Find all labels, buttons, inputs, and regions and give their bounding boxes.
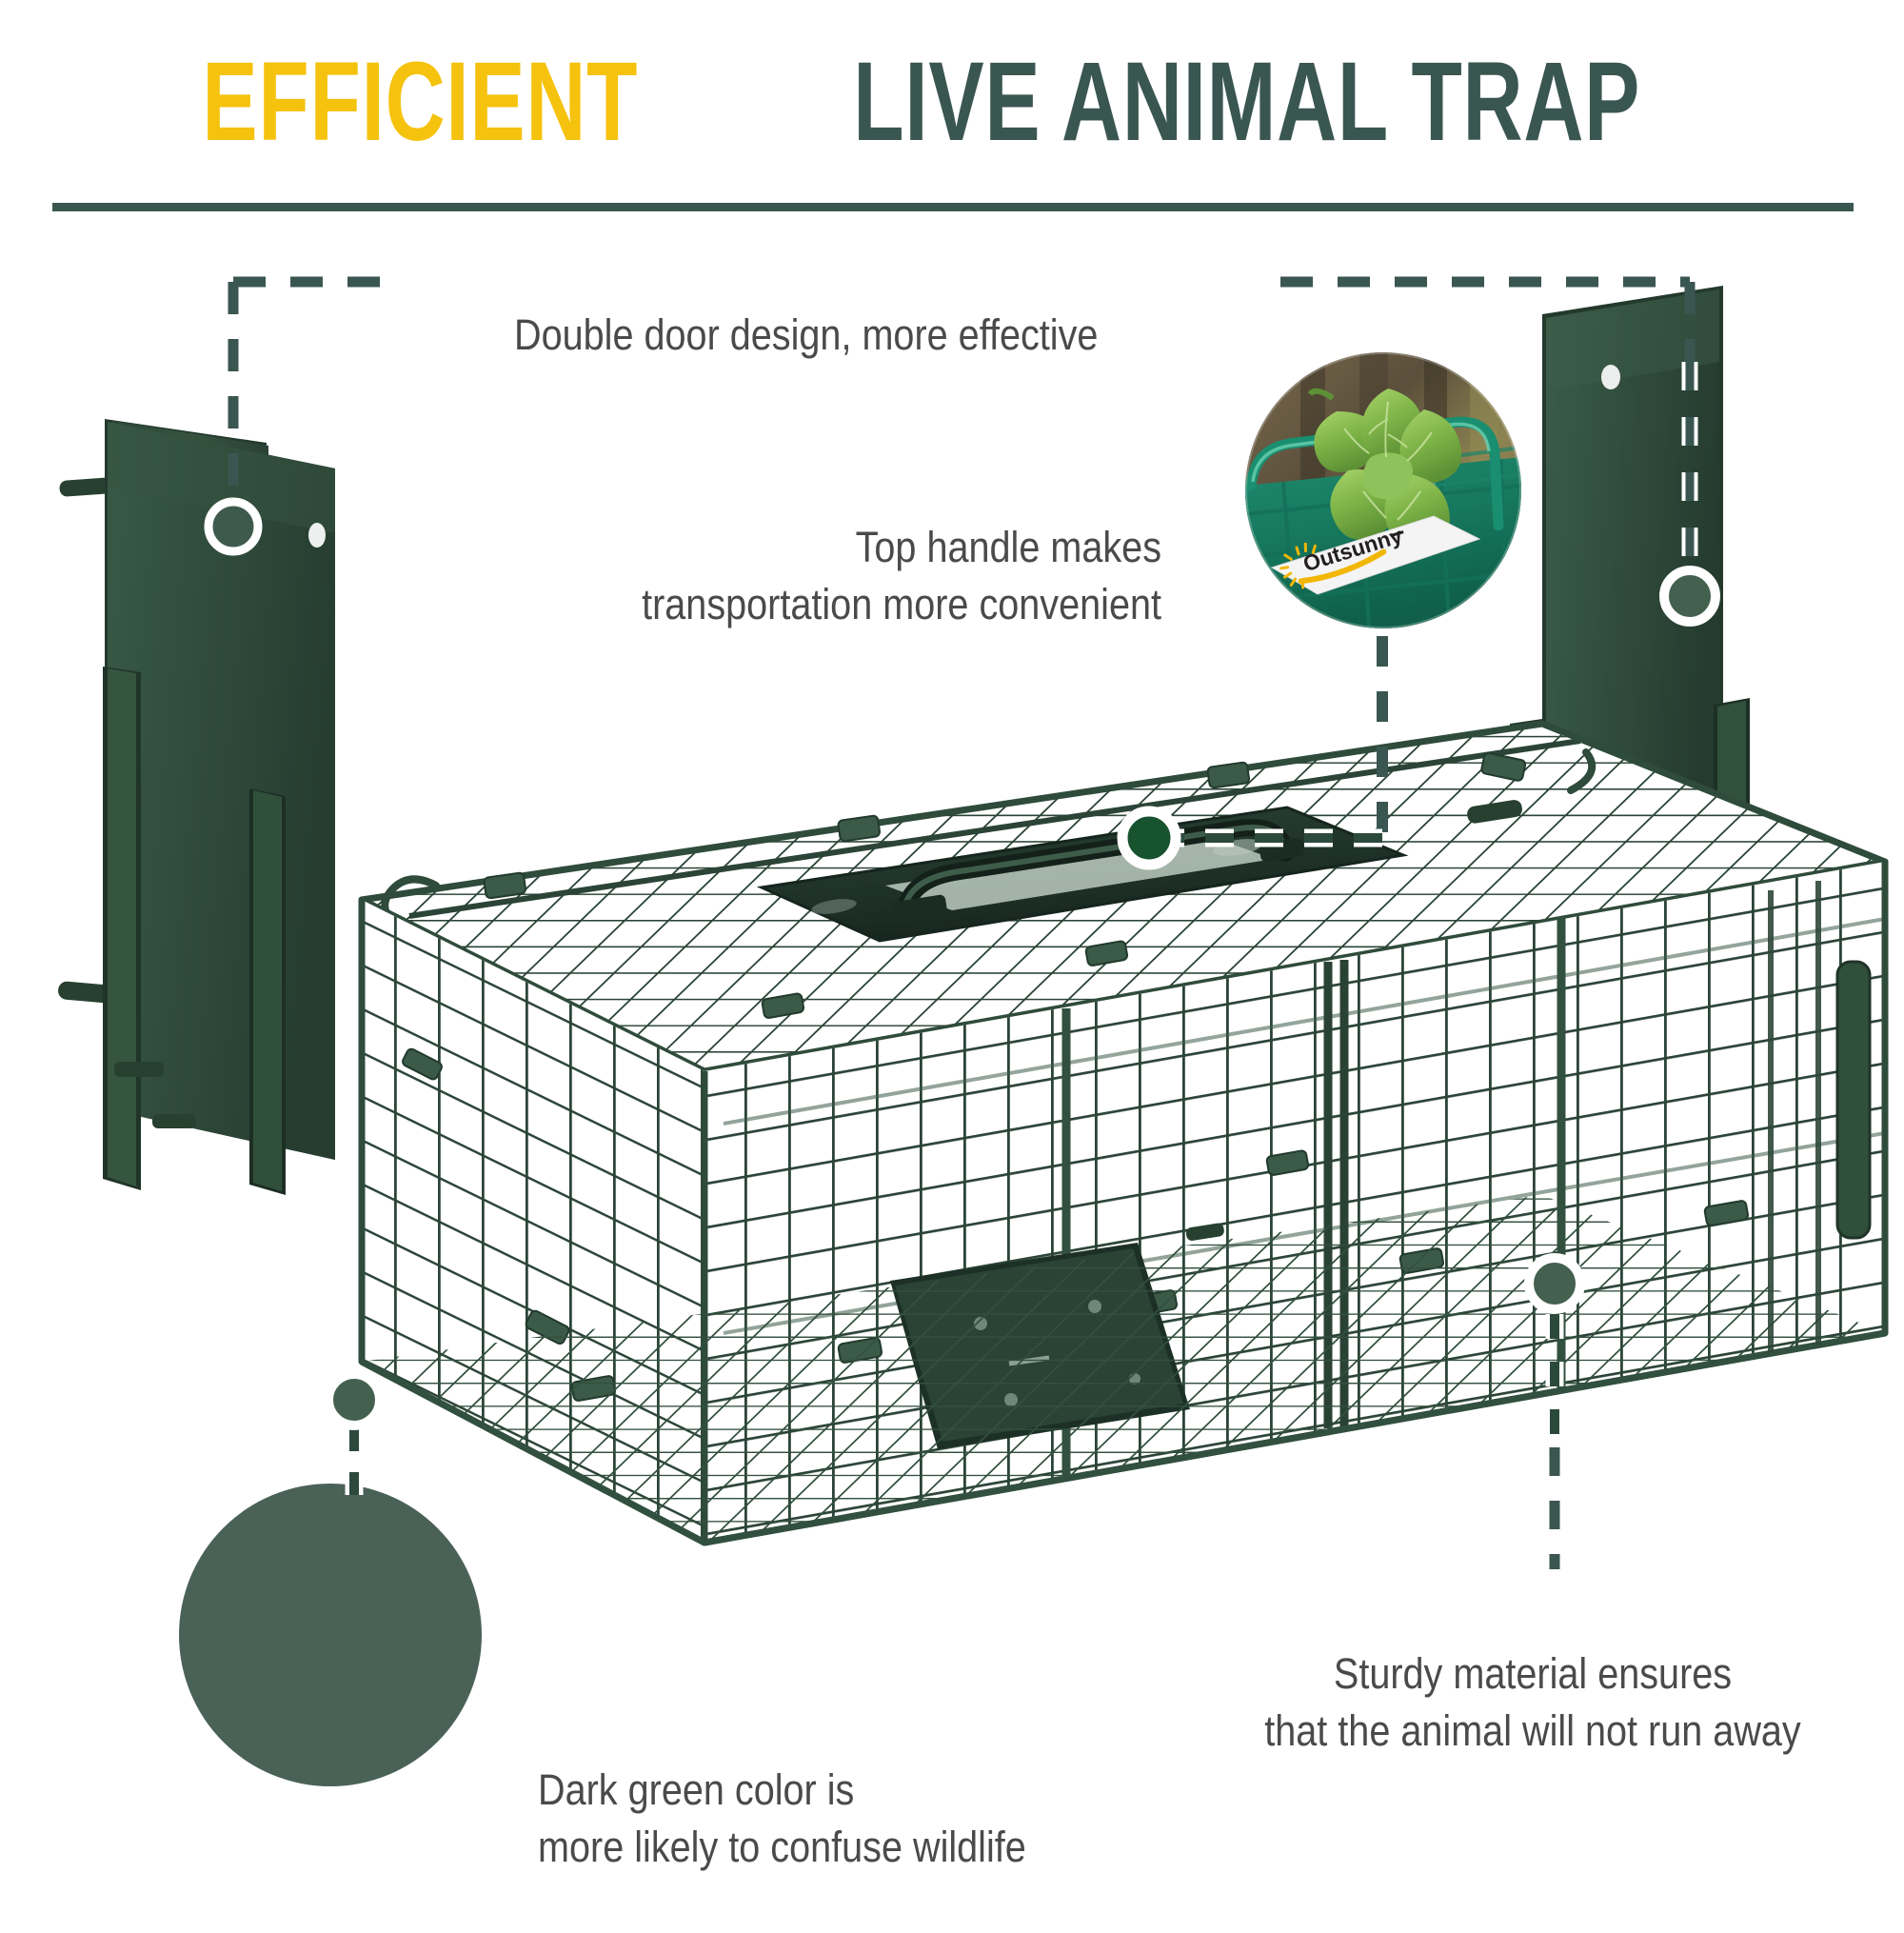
left-door-panel: [57, 419, 335, 1195]
callout-dark-green: Dark green color is more likely to confu…: [538, 1704, 1261, 1933]
dark-green-color-swatch: [179, 1484, 482, 1786]
callout-sturdy-text: Sturdy material ensures that the animal …: [1198, 1645, 1868, 1760]
infographic-canvas: EFFICIENT LIVE ANIMAL TRAP: [0, 0, 1904, 1904]
handle-closeup-photo: Outsunny: [1245, 352, 1521, 628]
callout-dark-green-text: Dark green color is more likely to confu…: [538, 1762, 1175, 1876]
callout-sturdy: Sturdy material ensures that the animal …: [1152, 1588, 1904, 1817]
callout-double-door-text: Double door design, more effective: [514, 307, 1098, 364]
callout-top-handle-text: Top handle makes transportation more con…: [491, 519, 1161, 633]
callout-double-door: Double door design, more effective: [514, 249, 1178, 421]
callout-top-handle: Top handle makes transportation more con…: [400, 462, 1161, 690]
